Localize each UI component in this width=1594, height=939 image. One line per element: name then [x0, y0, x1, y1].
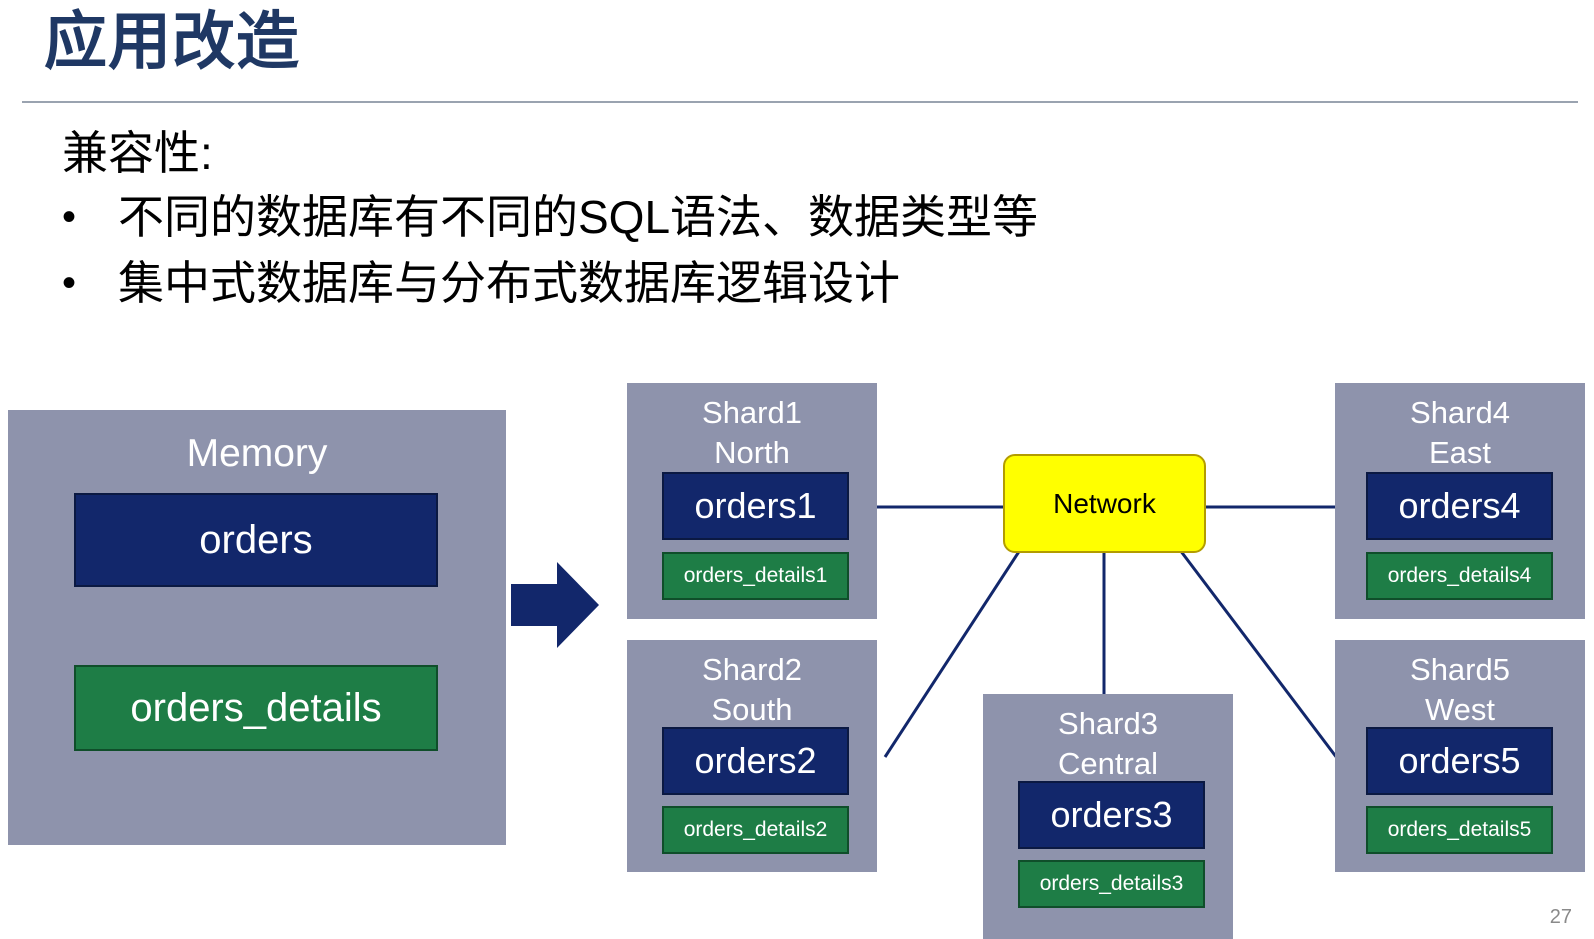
- shard5-main-table-label: orders5: [1398, 740, 1520, 782]
- arrow-right-icon: [511, 556, 599, 654]
- shard1-main-table: orders1: [662, 472, 849, 540]
- shard1-detail-table: orders_details1: [662, 552, 849, 600]
- shard5-detail-table: orders_details5: [1366, 806, 1553, 854]
- memory-label: Memory: [8, 410, 506, 478]
- shard4-main-table-label: orders4: [1398, 485, 1520, 527]
- shard1-main-table-label: orders1: [694, 485, 816, 527]
- shard3-region: Central: [983, 744, 1233, 784]
- shard3-main-table-label: orders3: [1050, 794, 1172, 836]
- shard2-region: South: [627, 690, 877, 730]
- shard1-region: North: [627, 433, 877, 473]
- shard2-main-table-label: orders2: [694, 740, 816, 782]
- shard5-region: West: [1335, 690, 1585, 730]
- shard3-title: Shard3: [983, 694, 1233, 744]
- table-orders-label: orders: [199, 518, 312, 563]
- shard4-detail-table-label: orders_details4: [1388, 564, 1532, 588]
- shard2-title: Shard2: [627, 640, 877, 690]
- network-node-label: Network: [1053, 488, 1156, 520]
- shard2-main-table: orders2: [662, 727, 849, 795]
- shard4-main-table: orders4: [1366, 472, 1553, 540]
- shard3-detail-table: orders_details3: [1018, 860, 1205, 908]
- table-orders-details: orders_details: [74, 665, 438, 751]
- network-node: Network: [1003, 454, 1206, 553]
- shard3-detail-table-label: orders_details3: [1040, 872, 1184, 896]
- shard4-detail-table: orders_details4: [1366, 552, 1553, 600]
- shard5-main-table: orders5: [1366, 727, 1553, 795]
- table-orders-details-label: orders_details: [130, 686, 381, 731]
- shard5-title: Shard5: [1335, 640, 1585, 690]
- shard1-title: Shard1: [627, 383, 877, 433]
- memory-container: Memory: [8, 410, 506, 845]
- shard2-detail-table: orders_details2: [662, 806, 849, 854]
- page-number: 27: [1550, 906, 1572, 929]
- table-orders: orders: [74, 493, 438, 587]
- shard3-main-table: orders3: [1018, 781, 1205, 849]
- architecture-diagram: Memory orders orders_details Shard1 Nort…: [0, 0, 1594, 939]
- shard2-detail-table-label: orders_details2: [684, 818, 828, 842]
- shard5-detail-table-label: orders_details5: [1388, 818, 1532, 842]
- shard4-title: Shard4: [1335, 383, 1585, 433]
- shard1-detail-table-label: orders_details1: [684, 564, 828, 588]
- shard4-region: East: [1335, 433, 1585, 473]
